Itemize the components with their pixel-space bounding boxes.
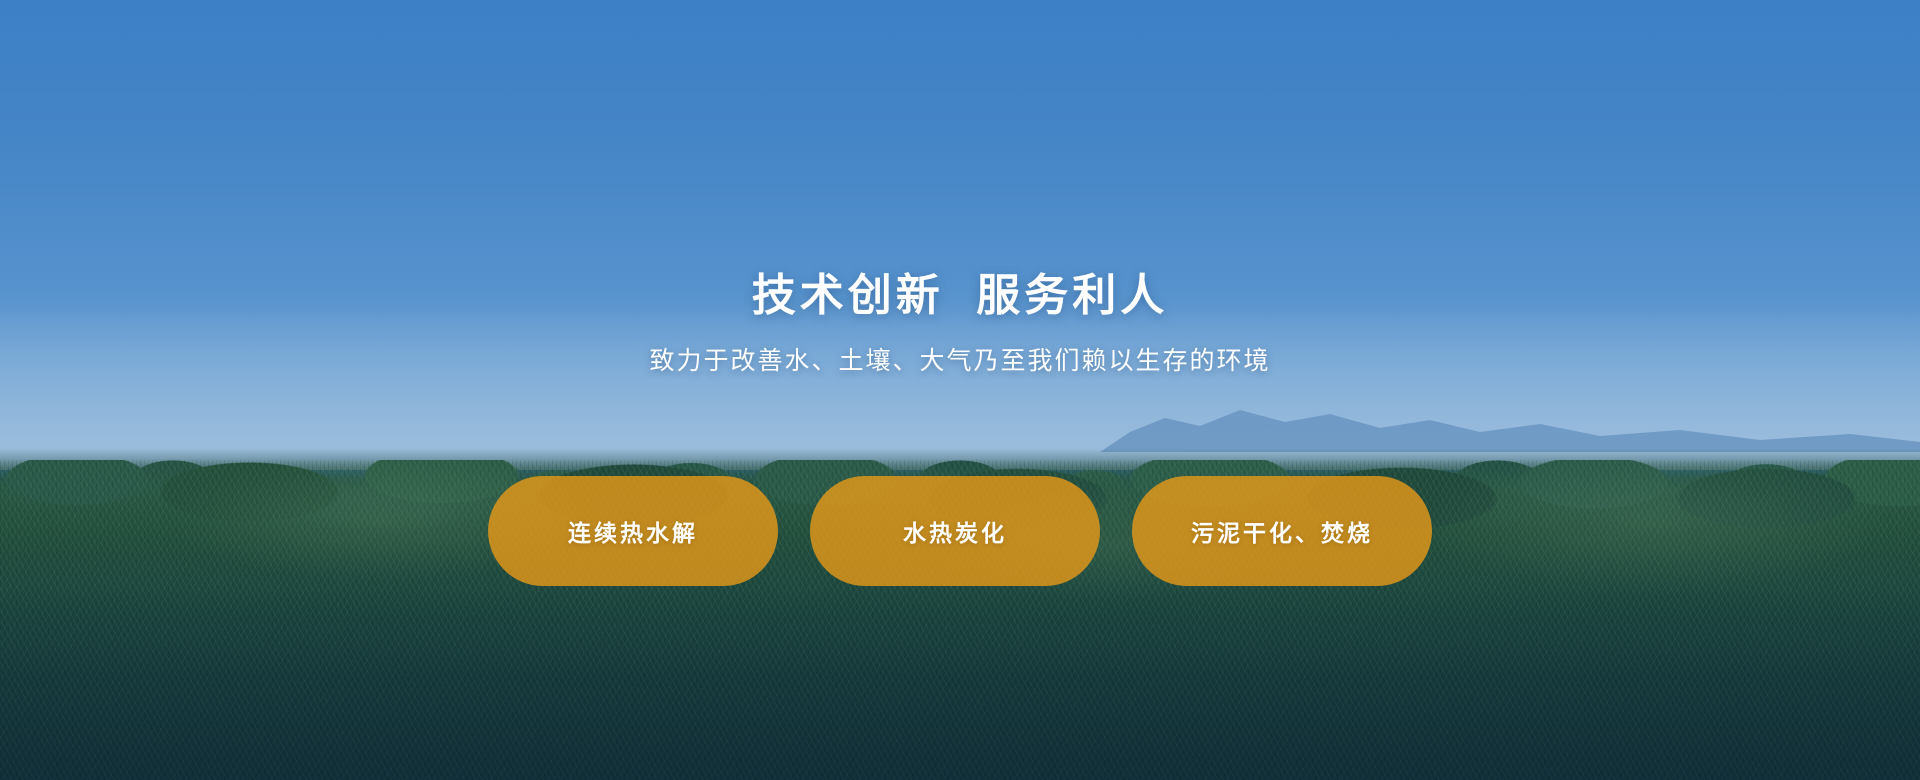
- page-title: 技术创新 服务利人: [0, 272, 1920, 320]
- pill-sludge-drying-incineration[interactable]: 污泥干化、焚烧: [1132, 476, 1432, 586]
- page-subtitle: 致力于改善水、土壤、大气乃至我们赖以生存的环境: [0, 346, 1920, 376]
- service-pill-row: 连续热水解 水热炭化 污泥干化、焚烧: [0, 476, 1920, 586]
- hero-content: 技术创新 服务利人 致力于改善水、土壤、大气乃至我们赖以生存的环境 连续热水解 …: [0, 0, 1920, 780]
- pill-continuous-thermal-hydrolysis[interactable]: 连续热水解: [488, 476, 778, 586]
- pill-hydrothermal-carbonization[interactable]: 水热炭化: [810, 476, 1100, 586]
- hero-banner: 技术创新 服务利人 致力于改善水、土壤、大气乃至我们赖以生存的环境 连续热水解 …: [0, 0, 1920, 780]
